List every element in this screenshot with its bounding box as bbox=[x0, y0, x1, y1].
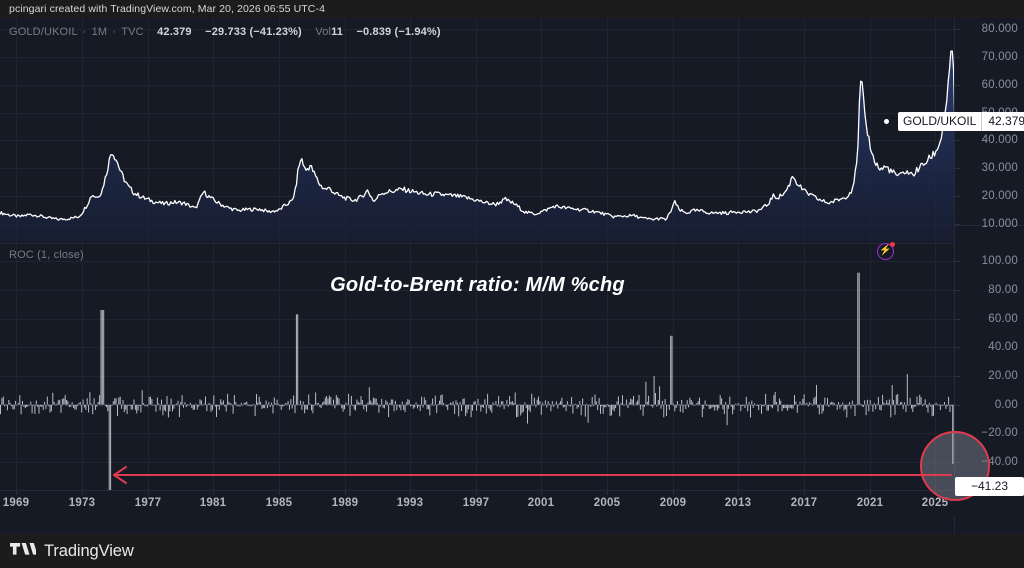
roc-bar bbox=[925, 399, 926, 404]
roc-bar bbox=[557, 405, 558, 409]
roc-bar bbox=[769, 405, 770, 406]
roc-bar bbox=[128, 405, 129, 406]
roc-bar bbox=[80, 402, 81, 405]
roc-bar bbox=[25, 405, 26, 408]
roc-bar bbox=[823, 405, 824, 411]
roc-bar bbox=[867, 400, 868, 405]
roc-bar bbox=[227, 394, 228, 405]
roc-bar bbox=[864, 400, 865, 404]
roc-bar bbox=[611, 405, 612, 416]
roc-bar bbox=[553, 405, 554, 407]
roc-axis-tick-label: 60.00 bbox=[988, 313, 1018, 325]
roc-bar bbox=[12, 405, 13, 410]
roc-bar bbox=[222, 402, 223, 404]
roc-indicator-title[interactable]: ROC (1, close) bbox=[9, 249, 84, 261]
roc-bar bbox=[376, 399, 377, 405]
roc-bar bbox=[523, 405, 524, 412]
roc-bar bbox=[204, 404, 205, 405]
roc-bar bbox=[508, 405, 509, 407]
roc-bar bbox=[720, 395, 721, 405]
roc-bar bbox=[0, 405, 1, 415]
roc-bar bbox=[951, 405, 952, 406]
roc-bar bbox=[380, 405, 381, 407]
roc-bar bbox=[599, 398, 600, 405]
roc-bar bbox=[604, 405, 605, 408]
roc-bar bbox=[168, 405, 169, 418]
roc-bar bbox=[462, 399, 463, 405]
roc-bar bbox=[303, 401, 304, 404]
roc-bar bbox=[567, 401, 568, 405]
roc-bar bbox=[323, 401, 324, 405]
price-series-svg bbox=[0, 18, 955, 242]
roc-bar bbox=[74, 405, 75, 410]
roc-bar bbox=[688, 405, 689, 408]
roc-bar bbox=[511, 402, 512, 405]
roc-bar bbox=[458, 405, 459, 417]
roc-bar bbox=[109, 405, 110, 494]
time-axis-label: 1969 bbox=[3, 497, 29, 509]
price-axis-tick-label: 80.000 bbox=[982, 23, 1018, 35]
roc-bar bbox=[789, 405, 790, 409]
roc-bar bbox=[883, 403, 884, 405]
roc-bar bbox=[725, 402, 726, 405]
price-badge-symbol: GOLD/UKOIL bbox=[898, 112, 982, 131]
time-axis-label: 2001 bbox=[528, 497, 554, 509]
roc-bar bbox=[205, 396, 206, 404]
roc-bar bbox=[886, 400, 887, 404]
roc-bar bbox=[768, 405, 769, 411]
time-axis-tick bbox=[738, 491, 739, 495]
roc-bar bbox=[15, 401, 16, 405]
price-axis-tick bbox=[955, 57, 960, 58]
roc-bar bbox=[472, 405, 473, 411]
price-area-fill bbox=[0, 51, 955, 242]
roc-bar bbox=[806, 403, 807, 405]
roc-bar bbox=[655, 393, 656, 405]
roc-bar bbox=[337, 397, 338, 405]
footer-bar: TradingView bbox=[0, 534, 1024, 568]
roc-bar bbox=[396, 405, 397, 411]
roc-bar bbox=[702, 405, 703, 418]
roc-bar bbox=[714, 405, 715, 411]
roc-bar bbox=[262, 405, 263, 409]
roc-bar bbox=[461, 405, 462, 411]
roc-bar bbox=[937, 405, 938, 406]
roc-bar bbox=[271, 403, 272, 405]
roc-bar bbox=[72, 402, 73, 404]
roc-bar bbox=[343, 405, 344, 412]
roc-bar bbox=[731, 405, 732, 407]
roc-bar bbox=[753, 405, 754, 408]
roc-bar bbox=[643, 405, 644, 416]
roc-bar bbox=[248, 405, 249, 406]
roc-bar bbox=[306, 405, 307, 410]
roc-bar bbox=[73, 405, 74, 408]
roc-bar bbox=[460, 402, 461, 405]
legend-exchange: TVC bbox=[121, 26, 143, 38]
roc-bar bbox=[524, 402, 525, 404]
roc-bar bbox=[728, 405, 729, 409]
roc-bar bbox=[915, 405, 916, 407]
roc-bar bbox=[456, 400, 457, 404]
roc-bar bbox=[445, 405, 446, 406]
roc-bar bbox=[696, 403, 697, 405]
roc-bar bbox=[101, 310, 102, 405]
roc-bar bbox=[381, 399, 382, 405]
roc-bar bbox=[307, 405, 308, 410]
roc-bar bbox=[447, 405, 448, 410]
time-axis-tick bbox=[16, 491, 17, 495]
roc-bar bbox=[636, 403, 637, 405]
roc-bar bbox=[351, 396, 352, 405]
roc-bar bbox=[292, 405, 293, 409]
roc-bar bbox=[482, 405, 483, 407]
roc-bar bbox=[718, 405, 719, 409]
roc-bar bbox=[560, 401, 561, 405]
roc-bar bbox=[314, 405, 315, 406]
roc-bar bbox=[564, 405, 565, 407]
roc-bar bbox=[804, 394, 805, 404]
roc-bar bbox=[861, 405, 862, 407]
roc-bar bbox=[146, 405, 147, 406]
roc-bar bbox=[809, 402, 810, 404]
roc-bar bbox=[473, 402, 474, 405]
legend-last-price: 42.379 bbox=[157, 26, 192, 38]
roc-bar bbox=[202, 405, 203, 406]
roc-bar bbox=[363, 405, 364, 410]
roc-bar bbox=[528, 405, 529, 411]
price-plot[interactable] bbox=[0, 18, 955, 242]
roc-bar bbox=[139, 405, 140, 406]
roc-bar bbox=[289, 405, 290, 410]
price-axis-tick-label: 60.000 bbox=[982, 79, 1018, 91]
roc-bar bbox=[274, 398, 275, 405]
roc-bar bbox=[34, 405, 35, 414]
roc-bar bbox=[319, 405, 320, 407]
roc-bar bbox=[872, 405, 873, 412]
roc-bar bbox=[332, 405, 333, 406]
roc-bar bbox=[383, 405, 384, 408]
roc-bar bbox=[879, 405, 880, 410]
roc-bar bbox=[45, 405, 46, 409]
time-axis-tick bbox=[673, 491, 674, 495]
roc-bar bbox=[600, 405, 601, 414]
roc-bar bbox=[400, 405, 401, 411]
roc-bar bbox=[479, 405, 480, 406]
roc-bar bbox=[910, 398, 911, 405]
roc-bar bbox=[164, 405, 165, 411]
roc-bar bbox=[735, 404, 736, 405]
roc-bar bbox=[124, 405, 125, 412]
roc-bar bbox=[544, 405, 545, 406]
roc-bar bbox=[917, 397, 918, 405]
time-axis-label: 1997 bbox=[463, 497, 489, 509]
roc-bar bbox=[120, 397, 121, 405]
roc-bar bbox=[713, 405, 714, 407]
roc-bar bbox=[55, 405, 56, 406]
roc-bar bbox=[398, 405, 399, 406]
roc-bar bbox=[388, 405, 389, 417]
legend-symbol[interactable]: GOLD/UKOIL bbox=[9, 26, 77, 38]
roc-bar bbox=[837, 405, 838, 410]
roc-bar bbox=[695, 405, 696, 406]
roc-bar bbox=[542, 403, 543, 405]
roc-bar bbox=[498, 396, 499, 405]
roc-bar bbox=[414, 405, 415, 408]
roc-bar bbox=[435, 396, 436, 405]
roc-bar bbox=[440, 395, 441, 405]
roc-bar bbox=[394, 405, 395, 412]
roc-bar bbox=[333, 400, 334, 405]
roc-axis-tick-label: 100.00 bbox=[982, 255, 1018, 267]
roc-bar bbox=[352, 405, 353, 406]
roc-bar bbox=[877, 404, 878, 405]
roc-bar bbox=[295, 405, 296, 413]
roc-bar bbox=[849, 402, 850, 405]
roc-bar bbox=[165, 405, 166, 412]
roc-bar bbox=[687, 400, 688, 405]
roc-bar bbox=[211, 405, 212, 412]
roc-bar bbox=[87, 398, 88, 404]
roc-bar bbox=[77, 405, 78, 407]
roc-bar bbox=[33, 405, 34, 406]
roc-bar bbox=[504, 405, 505, 409]
roc-bar bbox=[786, 405, 787, 409]
roc-bar bbox=[893, 400, 894, 405]
roc-bar bbox=[464, 398, 465, 404]
roc-bar bbox=[105, 405, 106, 406]
roc-bar bbox=[568, 405, 569, 406]
roc-axis-tick bbox=[955, 405, 960, 406]
roc-bar bbox=[235, 402, 236, 405]
roc-bar bbox=[633, 396, 634, 405]
roc-bar bbox=[228, 402, 229, 405]
roc-bar bbox=[145, 405, 146, 407]
roc-bar bbox=[190, 403, 191, 405]
roc-bar bbox=[826, 405, 827, 406]
roc-bar bbox=[669, 405, 670, 410]
roc-bar bbox=[113, 401, 114, 405]
legend-volume-change: −0.839 (−1.94%) bbox=[356, 26, 440, 38]
roc-axis-tick bbox=[955, 376, 960, 377]
price-pane[interactable]: GOLD/UKOIL · 1M · TVC 42.379 −29.733 (−4… bbox=[0, 18, 1024, 242]
roc-bar bbox=[345, 403, 346, 405]
roc-bar bbox=[645, 382, 646, 405]
roc-value-badge: −41.23 bbox=[955, 477, 1024, 496]
roc-bar bbox=[182, 395, 183, 405]
roc-bar bbox=[252, 405, 253, 406]
roc-bar bbox=[246, 402, 247, 405]
roc-axis-tick bbox=[955, 261, 960, 262]
price-legend: GOLD/UKOIL · 1M · TVC 42.379 −29.733 (−4… bbox=[9, 26, 441, 38]
roc-bar bbox=[143, 403, 144, 405]
roc-bar bbox=[366, 405, 367, 412]
roc-bar bbox=[672, 336, 673, 405]
roc-bar bbox=[85, 405, 86, 410]
roc-bar bbox=[175, 405, 176, 406]
roc-bar bbox=[259, 397, 260, 405]
roc-bar bbox=[555, 404, 556, 405]
roc-bar bbox=[747, 405, 748, 412]
tradingview-logo-icon bbox=[10, 543, 36, 559]
roc-bar bbox=[783, 405, 784, 409]
roc-bar bbox=[14, 405, 15, 410]
roc-bar bbox=[424, 397, 425, 404]
roc-bar bbox=[67, 401, 68, 405]
roc-bar bbox=[457, 403, 458, 405]
roc-bar bbox=[468, 405, 469, 410]
roc-bar bbox=[678, 405, 679, 406]
roc-bar bbox=[310, 404, 311, 405]
roc-bar bbox=[756, 405, 757, 406]
roc-bar bbox=[595, 395, 596, 405]
roc-bar bbox=[761, 405, 762, 414]
roc-bar bbox=[603, 405, 604, 414]
roc-bar bbox=[186, 405, 187, 407]
roc-bar bbox=[776, 402, 777, 405]
roc-bar bbox=[180, 402, 181, 405]
roc-bar bbox=[943, 405, 944, 406]
roc-bar bbox=[676, 405, 677, 408]
roc-bar bbox=[121, 405, 122, 409]
roc-bar bbox=[399, 405, 400, 408]
roc-bar bbox=[619, 405, 620, 417]
roc-bar bbox=[427, 405, 428, 410]
roc-bar bbox=[212, 405, 213, 410]
roc-bar bbox=[610, 405, 611, 416]
roc-bar bbox=[597, 405, 598, 410]
roc-bar bbox=[556, 401, 557, 404]
roc-bar bbox=[522, 405, 523, 413]
roc-bar bbox=[318, 403, 319, 405]
roc-bar bbox=[888, 403, 889, 405]
roc-bar bbox=[96, 405, 97, 407]
roc-bar bbox=[237, 405, 238, 407]
roc-bar bbox=[736, 405, 737, 406]
roc-bar bbox=[729, 397, 730, 405]
roc-bar bbox=[112, 405, 113, 406]
roc-bar bbox=[545, 400, 546, 404]
roc-bar bbox=[367, 403, 368, 405]
roc-bar bbox=[537, 400, 538, 405]
roc-bar bbox=[921, 397, 922, 405]
roc-bar bbox=[88, 405, 89, 413]
roc-bar bbox=[629, 403, 630, 405]
roc-bar bbox=[662, 401, 663, 405]
roc-bar bbox=[674, 405, 675, 412]
roc-bar bbox=[889, 400, 890, 405]
roc-bar bbox=[612, 405, 613, 410]
roc-bar bbox=[692, 402, 693, 404]
roc-bar bbox=[224, 405, 225, 407]
roc-bar bbox=[494, 404, 495, 405]
roc-bar bbox=[615, 405, 616, 408]
roc-bar bbox=[707, 405, 708, 406]
roc-bar bbox=[582, 398, 583, 404]
roc-bar bbox=[841, 405, 842, 407]
roc-bar bbox=[822, 405, 823, 414]
chart-canvas[interactable]: GOLD/UKOIL · 1M · TVC 42.379 −29.733 (−4… bbox=[0, 18, 1024, 534]
roc-bar bbox=[208, 404, 209, 405]
time-axis-label: 1981 bbox=[200, 497, 226, 509]
roc-bar bbox=[198, 405, 199, 407]
roc-bar bbox=[856, 404, 857, 405]
roc-axis-tick-label: −20.00 bbox=[981, 427, 1018, 439]
lightning-bolt-icon[interactable]: ⚡ bbox=[877, 243, 894, 260]
roc-bar bbox=[608, 405, 609, 407]
roc-bar bbox=[201, 401, 202, 405]
roc-bar bbox=[896, 395, 897, 405]
roc-bar bbox=[450, 403, 451, 405]
roc-bar bbox=[340, 404, 341, 405]
roc-bar bbox=[410, 405, 411, 407]
time-scale[interactable]: 1969197319771981198519891993199720012005… bbox=[0, 490, 1024, 517]
roc-bar bbox=[200, 399, 201, 404]
roc-bar bbox=[91, 404, 92, 405]
roc-bar bbox=[326, 396, 327, 405]
roc-bar bbox=[681, 400, 682, 405]
roc-bar bbox=[581, 405, 582, 416]
roc-bar bbox=[245, 402, 246, 404]
roc-bar bbox=[160, 405, 161, 411]
roc-bar bbox=[738, 403, 739, 405]
price-axis-tick bbox=[955, 168, 960, 169]
price-axis-tick bbox=[955, 196, 960, 197]
roc-bar bbox=[831, 402, 832, 405]
roc-bar bbox=[257, 403, 258, 405]
roc-bar bbox=[947, 405, 948, 407]
roc-bar bbox=[123, 400, 124, 405]
roc-bar bbox=[911, 405, 912, 409]
roc-bar bbox=[21, 405, 22, 415]
roc-bar bbox=[266, 401, 267, 405]
roc-bar bbox=[592, 397, 593, 405]
roc-bar bbox=[791, 405, 792, 409]
roc-bar bbox=[593, 405, 594, 406]
roc-bar bbox=[169, 405, 170, 412]
roc-bar bbox=[824, 398, 825, 405]
roc-bar bbox=[919, 395, 920, 405]
roc-bar bbox=[226, 405, 227, 412]
roc-bar bbox=[296, 314, 297, 404]
roc-bar bbox=[497, 405, 498, 407]
roc-bar bbox=[418, 405, 419, 407]
roc-bar bbox=[626, 400, 627, 405]
roc-bar bbox=[429, 405, 430, 416]
roc-bar bbox=[834, 403, 835, 405]
roc-bar bbox=[158, 404, 159, 405]
roc-bar bbox=[231, 404, 232, 405]
roc-bar bbox=[673, 404, 674, 405]
time-axis-label: 1973 bbox=[69, 497, 95, 509]
roc-bar bbox=[577, 405, 578, 409]
roc-bar bbox=[157, 398, 158, 405]
roc-bar bbox=[270, 405, 271, 407]
roc-bar bbox=[417, 405, 418, 409]
roc-bar bbox=[162, 405, 163, 416]
legend-interval[interactable]: 1M bbox=[92, 26, 108, 38]
roc-bar bbox=[423, 405, 424, 408]
roc-bar bbox=[171, 399, 172, 405]
roc-bar bbox=[853, 405, 854, 406]
roc-bar bbox=[754, 403, 755, 404]
roc-bar bbox=[846, 405, 847, 418]
roc-bar bbox=[648, 396, 649, 405]
roc-bar bbox=[392, 400, 393, 405]
roc-bar bbox=[26, 405, 27, 407]
roc-bar bbox=[66, 400, 67, 405]
roc-bar bbox=[839, 405, 840, 409]
